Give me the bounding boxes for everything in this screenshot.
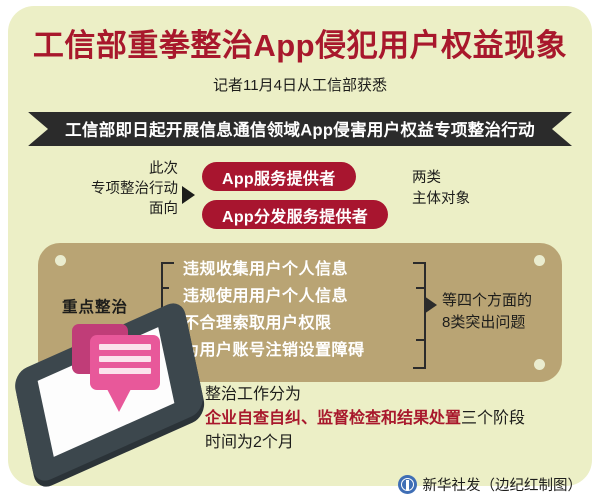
bracket-tick-icon [161,287,169,289]
schedule-text: 整治工作分为 企业自查自纠、监督检查和结果处置三个阶段 时间为2个月 [205,383,525,455]
screw-icon [534,359,545,370]
focus-item: 违规使用用户个人信息 [183,283,365,310]
focus-item: 违规收集用户个人信息 [183,256,365,283]
xinhua-logo-icon [398,475,417,494]
chat-bubble-tail-icon [107,389,131,412]
target-pill-app-distribution-provider: App分发服务提供者 [202,200,388,229]
target-label: 此次 专项整治行动 面向 [38,159,178,219]
smartphone-illustration [10,318,220,483]
page-subtitle: 记者11月4日从工信部获悉 [0,76,600,96]
focus-summary-line-1: 等四个方面的 [442,290,532,312]
schedule-phases-highlight: 企业自查自纠、监督检查和结果处置 [205,410,461,427]
target-label-line-2: 专项整治行动 [38,179,178,199]
target-summary-line-1: 两类 [412,168,470,189]
focus-summary-line-2: 8类突出问题 [442,312,532,334]
chat-bubble-line-icon [99,344,151,350]
target-summary-line-2: 主体对象 [412,189,470,210]
schedule-line-2: 企业自查自纠、监督检查和结果处置三个阶段 [205,407,525,431]
infographic-poster: 工信部重拳整治App侵犯用户权益现象 记者11月4日从工信部获悉 工信部即日起开… [0,0,600,504]
focus-summary: 等四个方面的 8类突出问题 [442,290,532,334]
schedule-line-1: 整治工作分为 [205,383,525,407]
bracket-tick-icon [416,287,424,289]
screw-icon [55,255,66,266]
bracket-tick-icon [416,339,424,341]
chat-bubble-line-icon [99,368,151,374]
schedule-line-3: 时间为2个月 [205,431,525,455]
announcement-banner: 工信部即日起开展信息通信领域App侵害用户权益专项整治行动 [28,112,572,146]
chat-bubble-line-icon [99,356,151,362]
focus-panel-label: 重点整治 [62,295,128,317]
page-title: 工信部重拳整治App侵犯用户权益现象 [0,27,600,65]
target-label-line-1: 此次 [38,159,178,179]
schedule-phases-tail: 三个阶段 [461,410,525,427]
target-summary: 两类 主体对象 [412,168,470,210]
arrow-right-icon [424,296,437,314]
arrow-right-icon [182,186,195,204]
footer-credit: 新华社发（边纪红制图） [398,474,583,495]
bracket-right-icon [413,262,426,369]
footer-credit-text: 新华社发（边纪红制图） [423,474,583,495]
target-label-line-3: 面向 [38,199,178,219]
announcement-banner-text: 工信部即日起开展信息通信领域App侵害用户权益专项整治行动 [65,117,535,141]
screw-icon [534,255,545,266]
target-pill-app-service-provider: App服务提供者 [202,162,356,191]
